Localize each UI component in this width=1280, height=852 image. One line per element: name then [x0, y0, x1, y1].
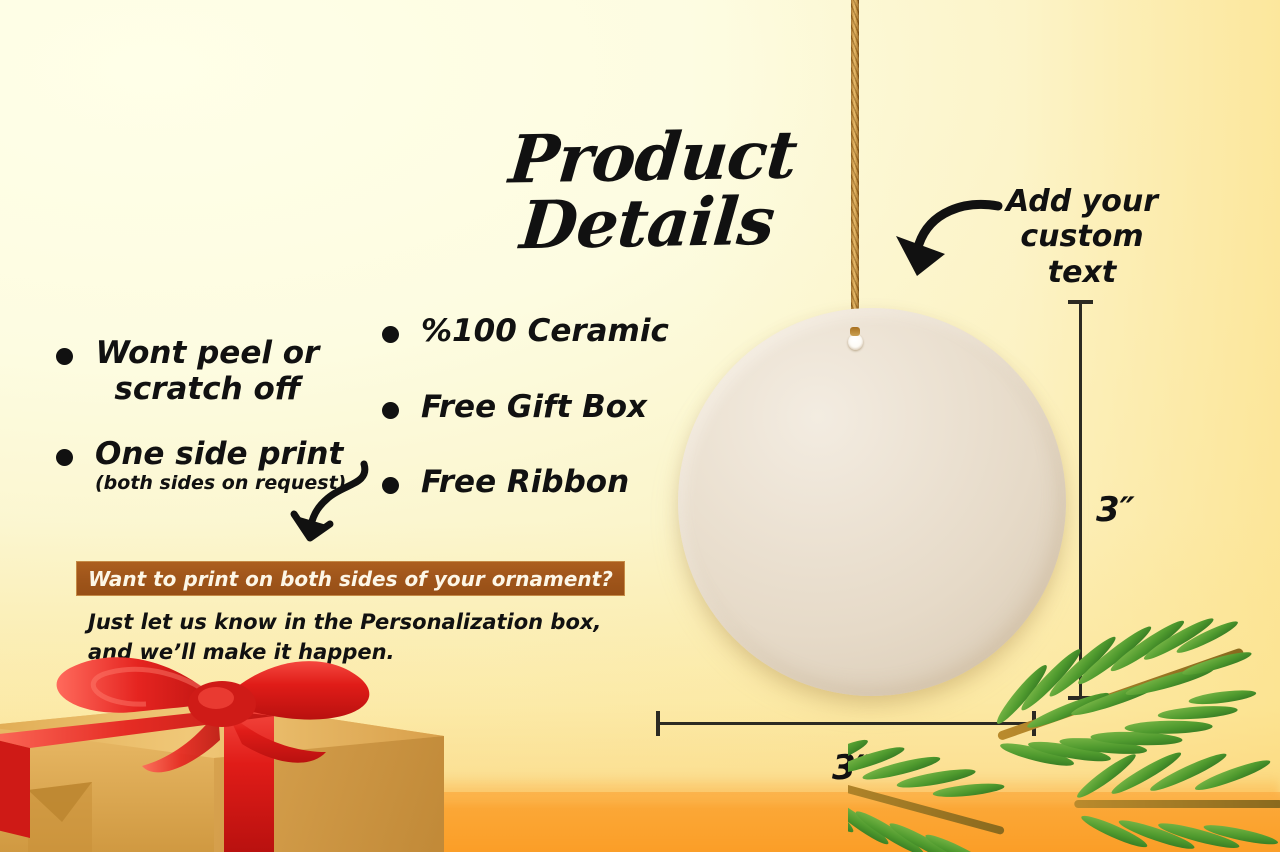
feature-list-right: %100 Ceramic Free Gift Box Free Ribbon [382, 300, 662, 520]
page-title: Product Details [434, 120, 866, 259]
bullet-icon [382, 402, 399, 419]
pine-branch-image [848, 600, 1280, 852]
gift-box-image [0, 640, 474, 852]
feature-label: Free Gift Box [421, 390, 647, 426]
bullet-icon [56, 449, 73, 466]
feature-label: %100 Ceramic [421, 314, 669, 350]
custom-text-callout: Add your custom text [982, 184, 1182, 290]
bullet-icon [56, 348, 73, 365]
callout-line2: custom text [982, 219, 1182, 290]
bullet-icon [382, 326, 399, 343]
dimension-height-label: 3″ [1096, 490, 1135, 530]
ornament-hole [848, 334, 863, 350]
hanging-cord [851, 0, 859, 348]
both-sides-banner: Want to print on both sides of your orna… [76, 561, 625, 596]
feature-label: Wont peel or scratch off [95, 336, 320, 408]
banner-label: Want to print on both sides of your orna… [88, 569, 613, 589]
banner-note-line1: Just let us know in the Personalization … [88, 608, 608, 638]
list-item: Free Gift Box [382, 390, 647, 426]
list-item: Free Ribbon [382, 465, 629, 501]
curved-arrow-down-left-icon [286, 458, 396, 558]
callout-line1: Add your [982, 184, 1182, 219]
list-item: %100 Ceramic [382, 314, 669, 350]
list-item: Wont peel or scratch off [56, 336, 320, 408]
feature-label: Free Ribbon [421, 465, 629, 501]
product-details-graphic: Product Details Wont peel or scratch off… [0, 0, 1280, 852]
